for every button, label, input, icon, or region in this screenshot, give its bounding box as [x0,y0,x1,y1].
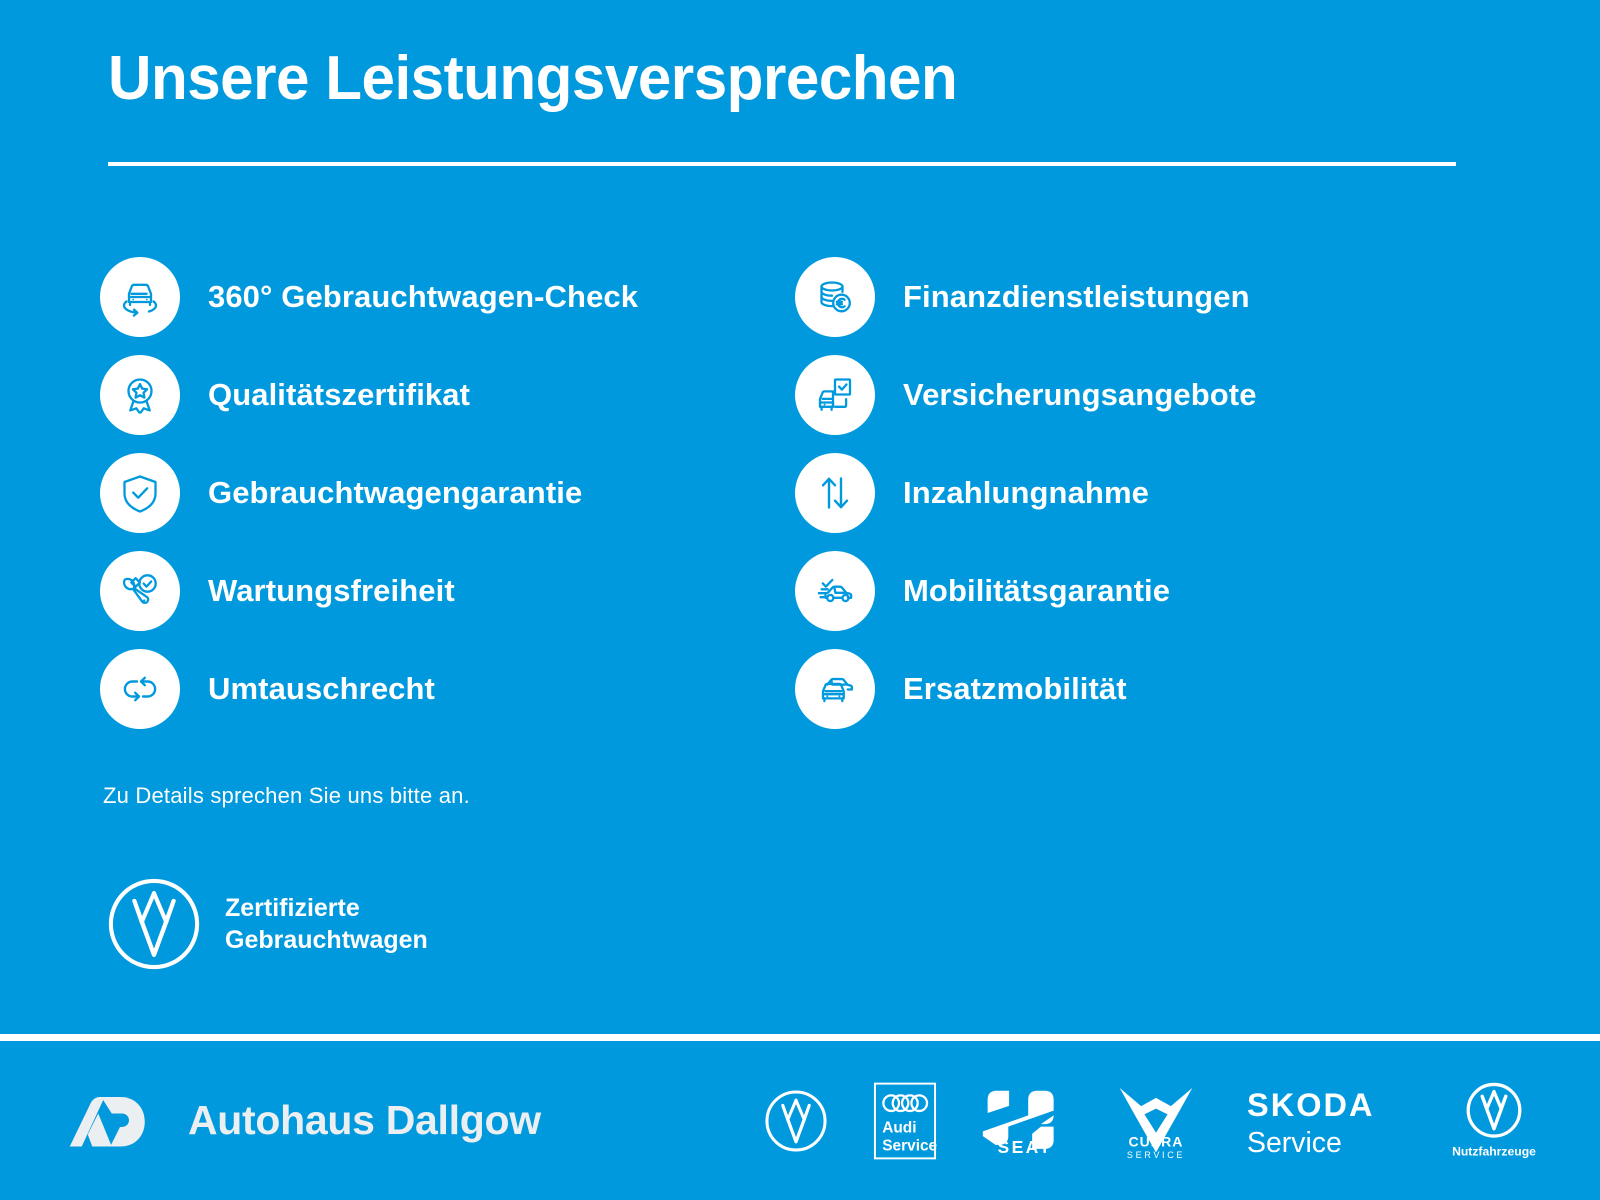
svg-text:Audi: Audi [882,1119,916,1136]
benefits-column-right: Finanzdienstleistungen Versicherungsange… [795,248,1495,738]
benefit-item-wartungsfreiheit[interactable]: Wartungsfreiheit [100,542,795,640]
benefit-label: Inzahlungnahme [903,475,1149,511]
certified-used-cars-block: Zertifizierte Gebrauchtwagen [105,875,428,973]
volkswagen-logo-icon [105,875,203,973]
benefit-item-gebrauchtwagen-check[interactable]: 360° Gebrauchtwagen-Check [100,248,795,346]
svg-text:Service: Service [882,1137,937,1154]
benefit-label: Ersatzmobilität [903,671,1127,707]
coins-euro-icon [795,257,875,337]
page-header: Unsere Leistungsversprechen [108,48,1498,166]
arrows-up-down-icon [795,453,875,533]
brand-logo-cupra-service[interactable]: CUPRA SERVICE [1113,1071,1199,1171]
dealer-branding[interactable]: Autohaus Dallgow [68,1091,541,1151]
brand-logo-strip: Audi Service SEAT CUPRA SERVICE SK [763,1071,1537,1171]
car-insurance-document-icon [795,355,875,435]
footer-divider [0,1034,1600,1041]
car-360-rotation-icon [100,257,180,337]
shield-check-icon [100,453,180,533]
footer: Autohaus Dallgow Audi [0,1041,1600,1200]
details-note: Zu Details sprechen Sie uns bitte an. [103,783,470,809]
benefit-label: Versicherungsangebote [903,377,1257,413]
benefit-item-finanzdienstleistungen[interactable]: Finanzdienstleistungen [795,248,1495,346]
svg-text:CUPRA: CUPRA [1128,1133,1183,1149]
two-cars-icon [795,649,875,729]
title-divider [108,162,1456,166]
svg-text:SKODA: SKODA [1247,1087,1375,1123]
benefit-item-mobilitaetsgarantie[interactable]: Mobilitätsgarantie [795,542,1495,640]
brand-logo-seat[interactable]: SEAT [981,1071,1069,1171]
benefits-grid: 360° Gebrauchtwagen-Check Qualitätszerti… [100,248,1520,738]
benefit-item-inzahlungnahme[interactable]: Inzahlungnahme [795,444,1495,542]
autohaus-dallgow-ad-monogram-icon [68,1091,166,1151]
benefit-label: Finanzdienstleistungen [903,279,1250,315]
benefit-item-qualitaetszertifikat[interactable]: Qualitätszertifikat [100,346,795,444]
certified-label: Zertifizierte Gebrauchtwagen [225,892,428,956]
benefit-item-versicherungsangebote[interactable]: Versicherungsangebote [795,346,1495,444]
page-title: Unsere Leistungsversprechen [108,48,1456,110]
svg-text:SEAT: SEAT [997,1136,1052,1155]
benefits-column-left: 360° Gebrauchtwagen-Check Qualitätszerti… [100,248,795,738]
svg-text:Nutzfahrzeuge: Nutzfahrzeuge [1452,1144,1536,1158]
brand-logo-audi-service[interactable]: Audi Service [873,1071,937,1171]
benefit-label: Qualitätszertifikat [208,377,470,413]
benefit-label: Mobilitätsgarantie [903,573,1170,609]
svg-text:Service: Service [1247,1126,1342,1158]
exchange-arrows-icon [100,649,180,729]
benefit-item-gebrauchtwagengarantie[interactable]: Gebrauchtwagengarantie [100,444,795,542]
award-ribbon-star-icon [100,355,180,435]
benefit-item-umtauschrecht[interactable]: Umtauschrecht [100,640,795,738]
benefit-label: Wartungsfreiheit [208,573,455,609]
brand-logo-skoda-service[interactable]: SKODA Service [1243,1071,1407,1171]
dealer-name: Autohaus Dallgow [188,1097,541,1144]
svg-text:SERVICE: SERVICE [1127,1150,1185,1160]
benefit-label: Gebrauchtwagengarantie [208,475,582,511]
benefit-label: 360° Gebrauchtwagen-Check [208,279,638,315]
car-motion-check-icon [795,551,875,631]
benefit-label: Umtauschrecht [208,671,435,707]
benefit-item-ersatzmobilitaet[interactable]: Ersatzmobilität [795,640,1495,738]
brand-logo-volkswagen-nutzfahrzeuge[interactable]: Nutzfahrzeuge [1451,1071,1537,1171]
wrench-check-icon [100,551,180,631]
brand-logo-volkswagen[interactable] [763,1071,829,1171]
